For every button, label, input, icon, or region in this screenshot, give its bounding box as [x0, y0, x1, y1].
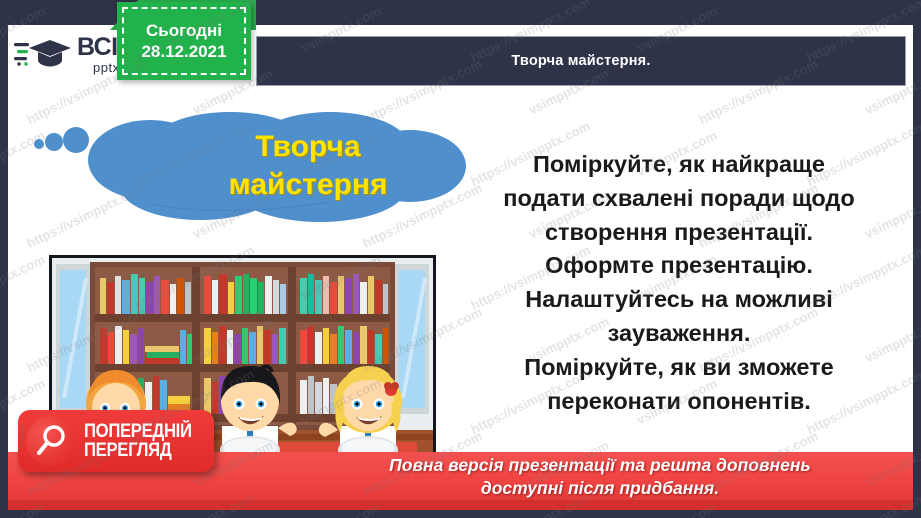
- page-title: Творча майстерня.: [511, 53, 650, 69]
- graduation-cap-icon: [14, 38, 72, 72]
- body-line: Поміркуйте, як найкраще: [448, 148, 910, 182]
- body-text-block: Поміркуйте, як найкраще подати схвалені …: [448, 148, 910, 419]
- banner-line-2: доступні після придбання.: [300, 477, 900, 500]
- body-line: створення презентації.: [448, 216, 910, 250]
- today-label: Сьогодні: [146, 20, 222, 41]
- body-line: Налаштуйтесь на можливі: [448, 283, 910, 317]
- purchase-banner-bottom-strip: [8, 500, 913, 510]
- today-date-badge: Сьогодні 28.12.2021: [117, 2, 251, 80]
- body-line: Оформте презентацію.: [448, 249, 910, 283]
- slide-header-bar: Творча майстерня.: [256, 36, 906, 86]
- cloud-title: Творча майстерня: [158, 128, 458, 205]
- purchase-banner-text: Повна версія презентації та решта доповн…: [300, 454, 900, 500]
- thought-cloud: Творча майстерня: [30, 108, 470, 226]
- preview-line-1: ПОПЕРЕДНІЙ: [84, 422, 192, 441]
- slide-root: Творча майстерня. ВСІМ pptx Сьогодні 28.…: [0, 0, 921, 518]
- cloud-title-line-1: Творча: [158, 128, 458, 166]
- cloud-title-line-2: майстерня: [158, 166, 458, 204]
- today-date: 28.12.2021: [141, 41, 226, 62]
- preview-line-2: ПЕРЕГЛЯД: [84, 441, 192, 460]
- body-line: зауваження.: [448, 317, 910, 351]
- preview-badge-label: ПОПЕРЕДНІЙ ПЕРЕГЛЯД: [84, 422, 206, 461]
- body-line: Поміркуйте, як ви зможете: [448, 351, 910, 385]
- body-line: переконати опонентів.: [448, 385, 910, 419]
- banner-line-1: Повна версія презентації та решта доповн…: [300, 454, 900, 477]
- body-line: подати схвалені поради щодо: [448, 182, 910, 216]
- preview-badge[interactable]: ПОПЕРЕДНІЙ ПЕРЕГЛЯД: [18, 410, 214, 472]
- magnifier-icon: [26, 416, 76, 466]
